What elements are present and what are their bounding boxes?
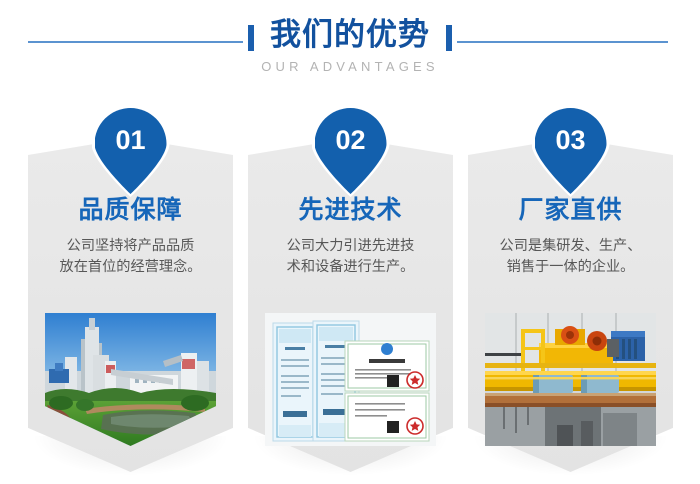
card-description: 公司是集研发、生产、 销售于一体的企业。 bbox=[477, 236, 664, 278]
card-description-line-1: 公司是集研发、生产、 bbox=[477, 236, 664, 257]
card-description-line-2: 销售于一体的企业。 bbox=[477, 257, 664, 278]
card-number-badge: 03 bbox=[535, 108, 607, 194]
card-description-line-2: 术和设备进行生产。 bbox=[257, 257, 444, 278]
card-title: 品质保障 bbox=[28, 195, 233, 225]
card-description-line-1: 公司坚持将产品品质 bbox=[37, 236, 224, 257]
certificates-photo bbox=[265, 313, 436, 446]
card-description-line-2: 放在首位的经营理念。 bbox=[37, 257, 224, 278]
card-number: 03 bbox=[535, 108, 607, 172]
advantage-card-1[interactable]: 01 品质保障 公司坚持将产品品质 放在首位的经营理念。 bbox=[28, 138, 233, 472]
card-description-line-1: 公司大力引进先进技 bbox=[257, 236, 444, 257]
card-title: 厂家直供 bbox=[468, 195, 673, 225]
advantage-card-2[interactable]: 02 先进技术 公司大力引进先进技 术和设备进行生产。 bbox=[248, 138, 453, 472]
advantage-card-3[interactable]: 03 厂家直供 公司是集研发、生产、 销售于一体的企业。 bbox=[468, 138, 673, 472]
card-number-badge: 01 bbox=[95, 108, 167, 194]
card-description: 公司大力引进先进技 术和设备进行生产。 bbox=[257, 236, 444, 278]
card-number-badge: 02 bbox=[315, 108, 387, 194]
card-title: 先进技术 bbox=[248, 195, 453, 225]
advantages-card-list: 01 品质保障 公司坚持将产品品质 放在首位的经营理念。 bbox=[0, 0, 700, 484]
card-number: 02 bbox=[315, 108, 387, 172]
card-number: 01 bbox=[95, 108, 167, 172]
card-description: 公司坚持将产品品质 放在首位的经营理念。 bbox=[37, 236, 224, 278]
crane-equipment-photo bbox=[485, 313, 656, 446]
